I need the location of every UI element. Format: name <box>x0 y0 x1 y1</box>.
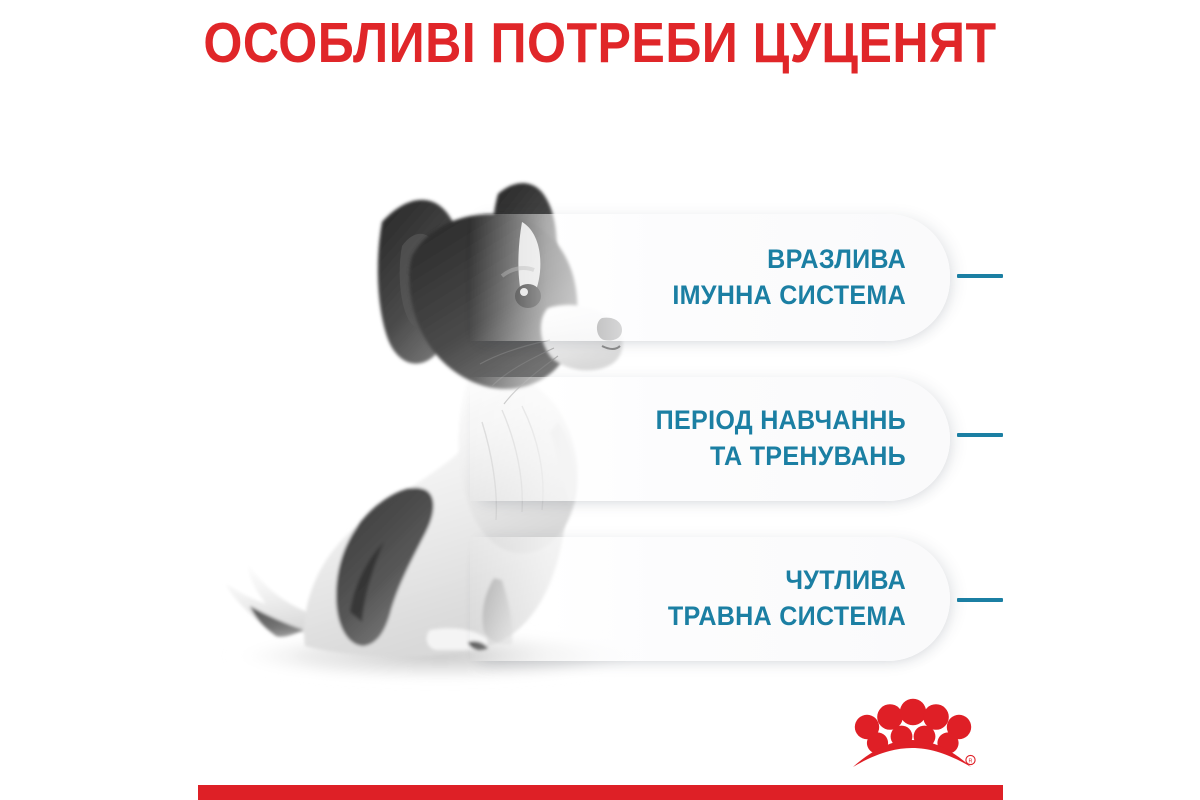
royal-canin-crown-icon: R <box>845 698 979 770</box>
callout-connector-line-2 <box>957 433 1003 437</box>
callout-digestive-system-label: ЧУТЛИВА ТРАВНА СИСТЕМА <box>528 563 906 634</box>
callout-connector-line-3 <box>957 598 1003 602</box>
footer-red-rule <box>198 785 1003 800</box>
poster-canvas: ОСОБЛИВІ ПОТРЕБИ ЦУЦЕНЯТ <box>0 0 1200 800</box>
callout-connector-line-1 <box>957 274 1003 278</box>
callout-immune-system-label: ВРАЗЛИВА ІМУННА СИСТЕМА <box>528 242 906 313</box>
page-title: ОСОБЛИВІ ПОТРЕБИ ЦУЦЕНЯТ <box>72 14 1128 74</box>
callout-learning-training-label: ПЕРІОД НАВЧАННЬ ТА ТРЕНУВАНЬ <box>528 403 906 474</box>
callout-digestive-system[interactable]: ЧУТЛИВА ТРАВНА СИСТЕМА <box>470 537 950 661</box>
callout-immune-system[interactable]: ВРАЗЛИВА ІМУННА СИСТЕМА <box>470 214 950 341</box>
registered-mark: R <box>969 758 973 764</box>
callout-learning-training[interactable]: ПЕРІОД НАВЧАННЬ ТА ТРЕНУВАНЬ <box>470 377 950 501</box>
